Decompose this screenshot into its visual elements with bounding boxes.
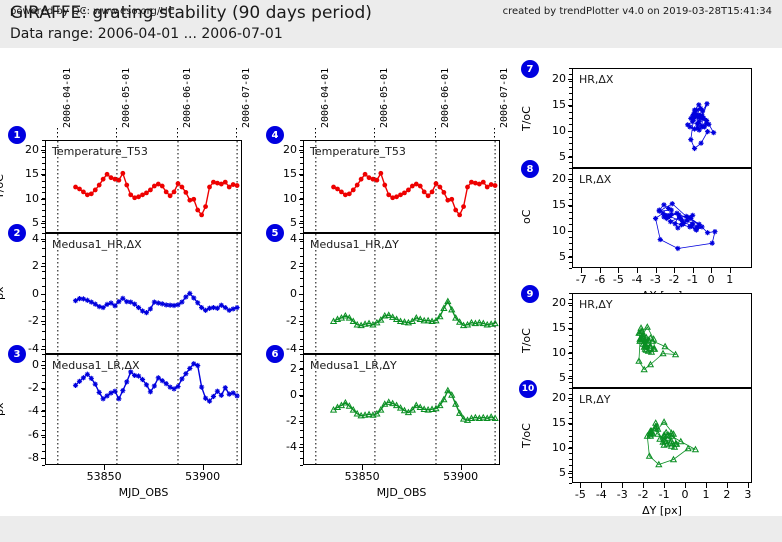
y-minor-tick [300, 423, 303, 424]
y-minor-tick [569, 305, 572, 306]
y-minor-tick [300, 221, 303, 222]
y-minor-tick [42, 163, 45, 164]
y-tick-label: 10 [538, 441, 566, 454]
y-minor-tick [569, 299, 572, 300]
y-tick-mark [299, 349, 304, 350]
y-minor-tick [569, 388, 572, 389]
date-gridline-extension [435, 128, 436, 140]
y-tick-label: 15 [538, 321, 566, 334]
y-minor-tick [42, 221, 45, 222]
y-minor-tick [569, 394, 572, 395]
y-minor-tick [300, 324, 303, 325]
panel-badge-9: 9 [521, 285, 539, 303]
y-minor-tick [300, 248, 303, 249]
y-minor-tick [300, 210, 303, 211]
y-minor-tick [569, 243, 572, 244]
y-minor-tick [42, 339, 45, 340]
y-minor-tick [42, 437, 45, 438]
y-tick-mark [41, 435, 46, 436]
y-minor-tick [42, 227, 45, 228]
y-minor-tick [300, 175, 303, 176]
y-minor-tick [300, 368, 303, 369]
y-minor-tick [569, 358, 572, 359]
y-minor-tick [569, 311, 572, 312]
y-tick-mark [41, 150, 46, 151]
panel-badge-5: 5 [266, 224, 284, 242]
y-minor-tick [569, 118, 572, 119]
y-minor-tick [569, 459, 572, 460]
y-tick-mark [299, 369, 304, 370]
y-minor-tick [569, 224, 572, 225]
series-label-7: HR,ΔX [579, 73, 613, 86]
plot-canvas-2 [46, 234, 243, 355]
y-minor-tick [42, 361, 45, 362]
panel-badge-3: 3 [8, 345, 26, 363]
y-minor-tick [569, 193, 572, 194]
date-gridline-extension [236, 128, 237, 140]
y-minor-tick [300, 375, 303, 376]
y-minor-tick [300, 256, 303, 257]
date-gridline-extension [116, 128, 117, 140]
x-tick-label: 53850 [337, 470, 387, 483]
y-minor-tick [42, 210, 45, 211]
y-minor-tick [569, 131, 572, 132]
y-tick-mark [41, 365, 46, 366]
y-minor-tick [42, 181, 45, 182]
y-tick-mark [568, 378, 573, 379]
y-tick-label: -4 [11, 404, 39, 417]
panel-badge-6: 6 [266, 345, 284, 363]
y-minor-tick [569, 81, 572, 82]
y-minor-tick [300, 301, 303, 302]
x-axis-label-3: MJD_OBS [84, 486, 204, 499]
y-minor-tick [42, 375, 45, 376]
y-minor-tick [300, 192, 303, 193]
y-tick-mark [41, 266, 46, 267]
y-axis-label-8: oC [520, 210, 533, 224]
y-minor-tick [569, 424, 572, 425]
y-tick-label: 10 [269, 192, 297, 205]
panel-badge-4: 4 [266, 126, 284, 144]
date-tick-label: 2006-06-01 [182, 68, 193, 128]
panel-badge-1: 1 [8, 126, 26, 144]
y-minor-tick [300, 271, 303, 272]
y-minor-tick [42, 187, 45, 188]
plot-panel-2 [45, 233, 242, 354]
y-minor-tick [42, 278, 45, 279]
y-minor-tick [42, 430, 45, 431]
y-tick-label: 5 [538, 150, 566, 163]
y-minor-tick [300, 354, 303, 355]
y-minor-tick [300, 396, 303, 397]
y-tick-label: 10 [11, 192, 39, 205]
date-tick-label: 2006-05-01 [121, 68, 132, 128]
y-tick-mark [568, 157, 573, 158]
y-minor-tick [42, 382, 45, 383]
y-minor-tick [569, 376, 572, 377]
y-minor-tick [300, 416, 303, 417]
x-tick-mark [730, 268, 731, 273]
y-tick-label: -8 [11, 451, 39, 464]
y-tick-label: -2 [269, 314, 297, 327]
y-tick-mark [568, 473, 573, 474]
y-axis-label-7: T/oC [520, 106, 533, 131]
y-tick-label: 20 [538, 72, 566, 85]
series-label-8: LR,ΔX [579, 173, 611, 186]
y-minor-tick [569, 317, 572, 318]
y-minor-tick [300, 241, 303, 242]
y-tick-mark [41, 223, 46, 224]
y-tick-label: 20 [538, 391, 566, 404]
y-tick-label: 15 [269, 167, 297, 180]
y-tick-label: 20 [269, 143, 297, 156]
x-tick-mark [203, 465, 204, 470]
y-tick-mark [41, 239, 46, 240]
y-minor-tick [569, 99, 572, 100]
y-minor-tick [569, 335, 572, 336]
y-minor-tick [569, 406, 572, 407]
y-tick-label: -2 [11, 381, 39, 394]
y-minor-tick [300, 278, 303, 279]
y-minor-tick [569, 87, 572, 88]
date-tick-label: 2006-04-01 [320, 68, 331, 128]
y-tick-mark [299, 266, 304, 267]
y-minor-tick [569, 162, 572, 163]
y-minor-tick [42, 152, 45, 153]
y-minor-tick [569, 477, 572, 478]
y-minor-tick [42, 248, 45, 249]
y-minor-tick [300, 382, 303, 383]
date-tick-label: 2006-07-01 [499, 68, 510, 128]
y-tick-mark [299, 223, 304, 224]
y-minor-tick [569, 346, 572, 347]
y-tick-mark [299, 447, 304, 448]
y-tick-mark [568, 398, 573, 399]
y-minor-tick [42, 451, 45, 452]
y-minor-tick [569, 436, 572, 437]
y-minor-tick [42, 157, 45, 158]
date-tick-label: 2006-05-01 [379, 68, 390, 128]
y-minor-tick [300, 361, 303, 362]
series-label-3: Medusa1_LR,ΔX [52, 359, 140, 372]
y-axis-label-2: px [0, 286, 6, 300]
y-minor-tick [300, 430, 303, 431]
y-tick-mark [41, 349, 46, 350]
y-minor-tick [569, 418, 572, 419]
y-minor-tick [42, 198, 45, 199]
y-minor-tick [42, 423, 45, 424]
y-minor-tick [300, 233, 303, 234]
x-tick-label: 53900 [178, 470, 228, 483]
y-minor-tick [569, 352, 572, 353]
y-tick-label: 2 [11, 259, 39, 272]
x-tick-label: 53900 [436, 470, 486, 483]
y-minor-tick [42, 233, 45, 234]
panel-badge-2: 2 [8, 224, 26, 242]
y-minor-tick [569, 218, 572, 219]
x-tick-mark [461, 465, 462, 470]
panel-badge-7: 7 [521, 60, 539, 78]
y-minor-tick [42, 294, 45, 295]
y-tick-mark [568, 303, 573, 304]
y-tick-label: 2 [269, 362, 297, 375]
page-subtitle: Data range: 2006-04-01 ... 2006-07-01 [10, 26, 283, 42]
y-minor-tick [42, 316, 45, 317]
plot-panel-5 [303, 233, 500, 354]
y-minor-tick [569, 112, 572, 113]
panel-badge-10: 10 [519, 380, 537, 398]
y-minor-tick [42, 368, 45, 369]
date-gridline-extension [177, 128, 178, 140]
y-minor-tick [42, 169, 45, 170]
y-tick-label: 5 [538, 250, 566, 263]
y-minor-tick [42, 444, 45, 445]
date-gridline-extension [494, 128, 495, 140]
series-label-2: Medusa1_HR,ΔX [52, 238, 142, 251]
panel-badge-8: 8 [521, 160, 539, 178]
y-tick-label: 5 [538, 466, 566, 479]
y-axis-label-3: px [0, 402, 6, 416]
y-minor-tick [300, 216, 303, 217]
y-axis-label-1: T/oC [0, 174, 6, 199]
y-tick-label: 10 [538, 224, 566, 237]
y-minor-tick [569, 400, 572, 401]
y-minor-tick [300, 339, 303, 340]
y-tick-label: 0 [269, 287, 297, 300]
y-minor-tick [42, 175, 45, 176]
y-minor-tick [569, 212, 572, 213]
y-minor-tick [42, 271, 45, 272]
y-minor-tick [300, 309, 303, 310]
y-tick-label: 15 [538, 198, 566, 211]
y-minor-tick [42, 309, 45, 310]
y-minor-tick [300, 294, 303, 295]
y-minor-tick [569, 174, 572, 175]
series-label-5: Medusa1_HR,ΔY [310, 238, 399, 251]
y-minor-tick [300, 169, 303, 170]
y-minor-tick [42, 192, 45, 193]
y-minor-tick [42, 389, 45, 390]
y-minor-tick [300, 437, 303, 438]
y-minor-tick [42, 286, 45, 287]
x-tick-mark [748, 483, 749, 488]
y-minor-tick [569, 471, 572, 472]
y-tick-label: -6 [11, 428, 39, 441]
y-minor-tick [569, 168, 572, 169]
x-tick-mark [104, 465, 105, 470]
y-minor-tick [569, 256, 572, 257]
y-minor-tick [569, 231, 572, 232]
y-minor-tick [569, 364, 572, 365]
y-tick-label: 10 [538, 346, 566, 359]
y-minor-tick [569, 143, 572, 144]
y-tick-mark [299, 150, 304, 151]
y-tick-label: 15 [11, 167, 39, 180]
series-label-1: Temperature_T53 [52, 145, 148, 158]
y-minor-tick [300, 157, 303, 158]
y-minor-tick [569, 341, 572, 342]
y-minor-tick [569, 465, 572, 466]
y-minor-tick [42, 416, 45, 417]
y-minor-tick [569, 187, 572, 188]
y-minor-tick [42, 331, 45, 332]
y-minor-tick [300, 346, 303, 347]
x-tick-label: 1 [705, 273, 755, 286]
y-tick-mark [299, 239, 304, 240]
y-minor-tick [569, 268, 572, 269]
y-tick-label: 2 [269, 259, 297, 272]
y-minor-tick [569, 124, 572, 125]
y-tick-mark [568, 79, 573, 80]
date-gridline-extension [57, 128, 58, 140]
footer-band [0, 516, 782, 542]
y-minor-tick [300, 451, 303, 452]
footer-credit: powered by QC: www.eso.org/HC [10, 6, 175, 17]
y-axis-label-10: T/oC [520, 423, 533, 448]
y-minor-tick [300, 403, 303, 404]
footer-generator: created by trendPlotter v4.0 on 2019-03-… [503, 6, 772, 17]
y-minor-tick [300, 198, 303, 199]
y-minor-tick [300, 263, 303, 264]
y-minor-tick [300, 146, 303, 147]
series-label-9: HR,ΔY [579, 298, 613, 311]
y-minor-tick [569, 74, 572, 75]
y-minor-tick [569, 447, 572, 448]
y-minor-tick [569, 249, 572, 250]
y-minor-tick [42, 256, 45, 257]
y-minor-tick [300, 444, 303, 445]
y-minor-tick [569, 370, 572, 371]
series-label-6: Medusa1_LR,ΔY [310, 359, 397, 372]
y-minor-tick [42, 140, 45, 141]
x-tick-label: 53850 [79, 470, 129, 483]
y-minor-tick [300, 187, 303, 188]
y-minor-tick [569, 206, 572, 207]
y-minor-tick [42, 204, 45, 205]
y-tick-label: 0 [269, 388, 297, 401]
y-tick-mark [299, 421, 304, 422]
y-minor-tick [300, 152, 303, 153]
y-minor-tick [300, 286, 303, 287]
y-minor-tick [569, 199, 572, 200]
y-minor-tick [300, 227, 303, 228]
y-tick-label: -2 [269, 414, 297, 427]
y-tick-mark [299, 321, 304, 322]
y-minor-tick [300, 204, 303, 205]
y-minor-tick [569, 137, 572, 138]
y-minor-tick [300, 458, 303, 459]
y-tick-mark [568, 257, 573, 258]
y-minor-tick [42, 301, 45, 302]
y-tick-label: 10 [538, 124, 566, 137]
y-minor-tick [569, 430, 572, 431]
y-axis-label-9: T/oC [520, 328, 533, 353]
y-tick-label: 20 [11, 143, 39, 156]
y-tick-mark [41, 411, 46, 412]
x-tick-label: 3 [723, 488, 773, 501]
y-minor-tick [300, 410, 303, 411]
y-minor-tick [42, 465, 45, 466]
y-tick-label: 15 [538, 98, 566, 111]
y-minor-tick [569, 149, 572, 150]
date-tick-label: 2006-07-01 [241, 68, 252, 128]
y-minor-tick [569, 237, 572, 238]
y-minor-tick [300, 331, 303, 332]
y-tick-label: 15 [538, 416, 566, 429]
y-tick-mark [41, 321, 46, 322]
y-minor-tick [42, 458, 45, 459]
y-minor-tick [42, 346, 45, 347]
y-minor-tick [42, 324, 45, 325]
y-minor-tick [42, 263, 45, 264]
y-minor-tick [42, 216, 45, 217]
y-minor-tick [569, 453, 572, 454]
y-tick-label: 20 [538, 172, 566, 185]
y-minor-tick [300, 316, 303, 317]
y-tick-label: 0 [11, 287, 39, 300]
y-minor-tick [569, 483, 572, 484]
y-minor-tick [569, 412, 572, 413]
x-axis-label-6: MJD_OBS [342, 486, 462, 499]
y-minor-tick [569, 329, 572, 330]
y-minor-tick [569, 106, 572, 107]
y-minor-tick [569, 382, 572, 383]
y-minor-tick [42, 403, 45, 404]
date-tick-label: 2006-04-01 [62, 68, 73, 128]
y-minor-tick [300, 181, 303, 182]
plot-canvas-5 [304, 234, 501, 355]
y-minor-tick [300, 465, 303, 466]
date-tick-label: 2006-06-01 [440, 68, 451, 128]
y-minor-tick [569, 293, 572, 294]
y-tick-label: 20 [538, 296, 566, 309]
y-minor-tick [300, 163, 303, 164]
y-minor-tick [42, 410, 45, 411]
y-minor-tick [42, 241, 45, 242]
y-minor-tick [569, 323, 572, 324]
y-tick-label: -4 [269, 440, 297, 453]
x-tick-mark [362, 465, 363, 470]
y-minor-tick [569, 68, 572, 69]
y-tick-label: 5 [538, 371, 566, 384]
y-minor-tick [569, 93, 572, 94]
date-gridline-extension [315, 128, 316, 140]
date-gridline-extension [374, 128, 375, 140]
y-minor-tick [300, 389, 303, 390]
y-minor-tick [42, 354, 45, 355]
y-minor-tick [569, 262, 572, 263]
y-minor-tick [300, 140, 303, 141]
series-label-10: LR,ΔY [579, 393, 611, 406]
y-tick-label: -2 [11, 314, 39, 327]
y-minor-tick [569, 181, 572, 182]
y-minor-tick [569, 156, 572, 157]
y-minor-tick [42, 146, 45, 147]
y-tick-mark [568, 179, 573, 180]
y-minor-tick [42, 396, 45, 397]
y-minor-tick [569, 441, 572, 442]
series-label-4: Temperature_T53 [310, 145, 406, 158]
